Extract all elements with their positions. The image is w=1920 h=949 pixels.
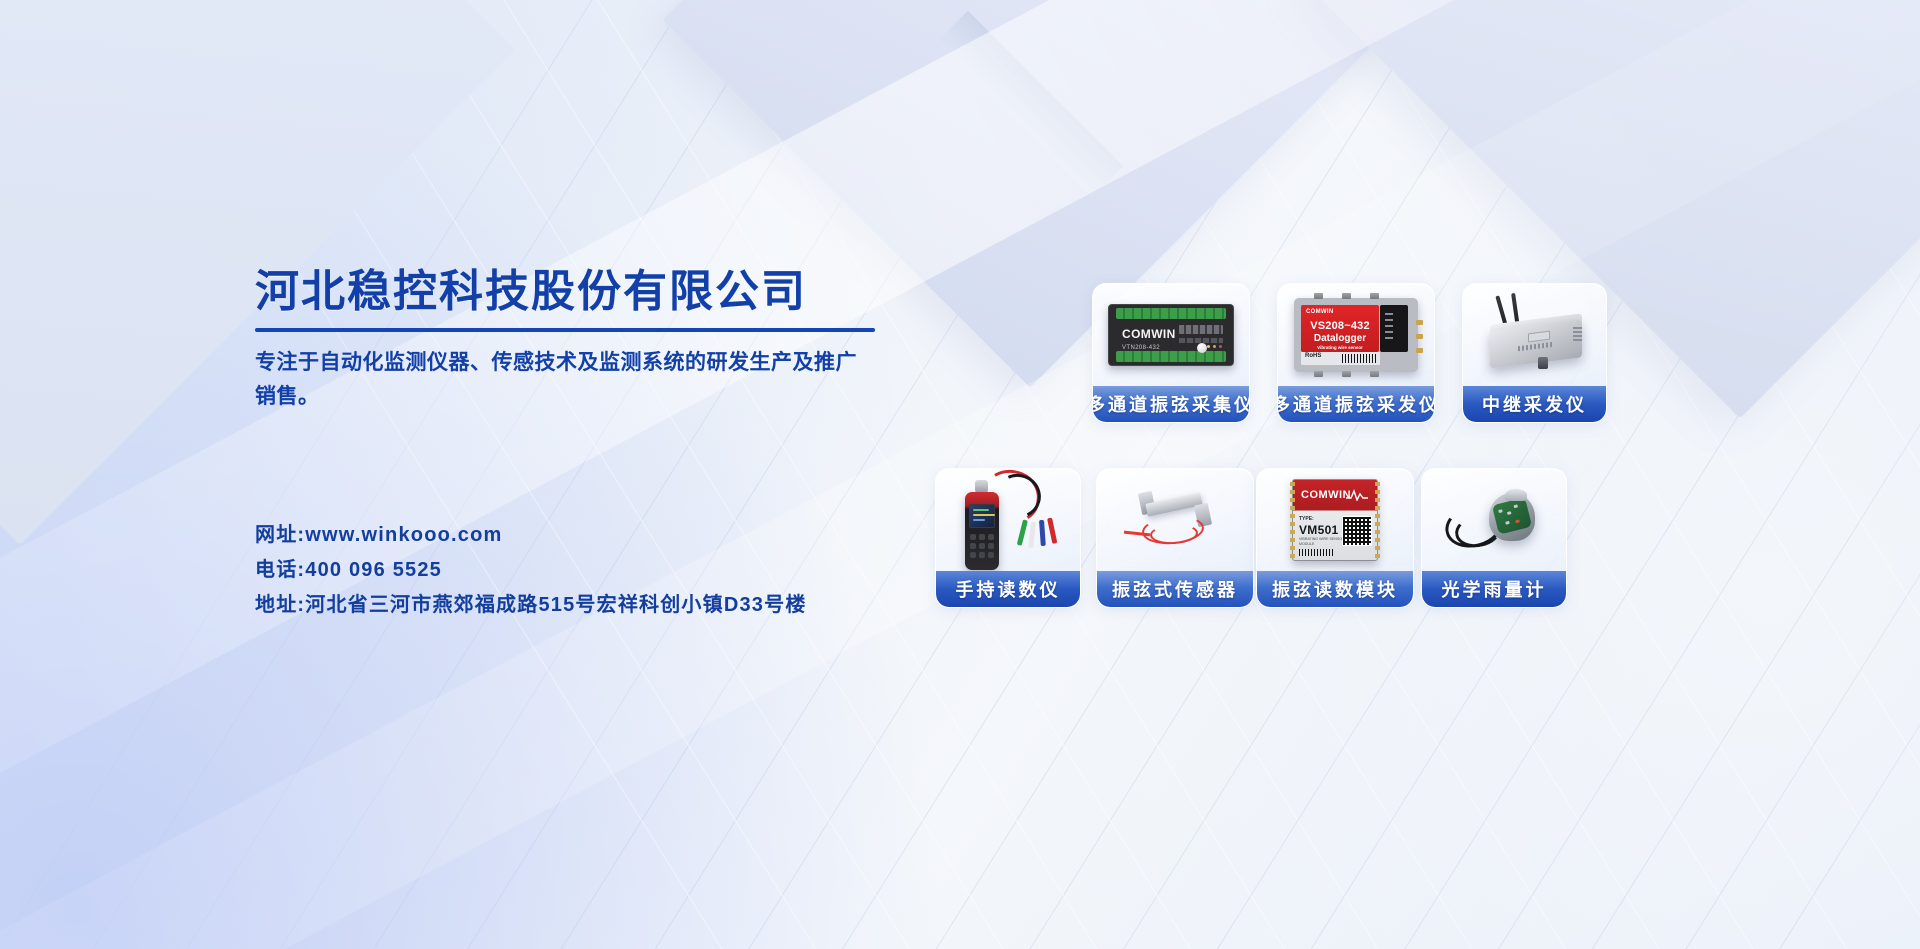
company-tagline: 专注于自动化监测仪器、传感技术及监测系统的研发生产及推广销售。 — [255, 346, 875, 414]
product-card-vibrating-wire-sensor[interactable]: 振弦式传感器 — [1096, 468, 1254, 608]
clip-green — [1017, 519, 1028, 545]
qr-code-icon — [1342, 516, 1372, 546]
device-type-label: TYPE: — [1299, 516, 1314, 522]
device-type-label: Datalogger — [1302, 333, 1378, 344]
device-vs208-datalogger: COMWIN VS208~432 Datalogger Vibrating wi… — [1294, 298, 1418, 372]
wave-icon — [1346, 488, 1368, 500]
background-isometric-slab-right — [1430, 0, 1920, 290]
product-image-relay-transceiver — [1463, 284, 1606, 386]
device-model-label: VTN208-432 — [1122, 345, 1160, 351]
product-label-relay-transceiver: 中继采发仪 — [1463, 386, 1606, 422]
product-image-reading-module: COMWIN TYPE: VM501 VIBRATING WIRE SENSOR… — [1257, 469, 1413, 571]
device-brand-label: COMWIN — [1301, 489, 1351, 501]
product-card-multichannel-collector[interactable]: COMWIN VTN208-432 多通道振弦采集仪 — [1092, 283, 1250, 423]
product-image-optical-rain-gauge — [1422, 469, 1566, 571]
title-divider — [255, 328, 875, 332]
barcode-icon — [1299, 549, 1335, 556]
device-brand-label: COMWIN — [1306, 309, 1333, 315]
product-card-multichannel-datalogger[interactable]: COMWIN VS208~432 Datalogger Vibrating wi… — [1277, 283, 1435, 423]
product-card-handheld-reader[interactable]: 手持读数仪 — [935, 468, 1081, 608]
product-label-vibrating-wire-sensor: 振弦式传感器 — [1097, 571, 1253, 607]
device-leds — [1207, 345, 1222, 348]
product-label-multichannel-datalogger: 多通道振弦采发仪 — [1278, 386, 1434, 422]
device-handheld-reader — [949, 468, 1067, 576]
device-vm501-module: COMWIN TYPE: VM501 VIBRATING WIRE SENSOR… — [1292, 479, 1378, 561]
device-vtn208-logger: COMWIN VTN208-432 — [1108, 304, 1234, 366]
product-card-optical-rain-gauge[interactable]: 光学雨量计 — [1421, 468, 1567, 608]
barcode-icon — [1342, 354, 1376, 363]
device-cert-strip: RoHS — [1301, 352, 1380, 365]
product-image-handheld-reader — [936, 469, 1080, 571]
contact-website: 网址:www.winkooo.com — [255, 518, 807, 553]
device-relay-box — [1476, 299, 1594, 371]
clip-blue — [1039, 520, 1046, 546]
contact-block: 网址:www.winkooo.com 电话:400 096 5525 地址:河北… — [255, 518, 807, 623]
device-knob — [1197, 343, 1207, 353]
page-title: 河北稳控科技股份有限公司 — [255, 268, 895, 316]
device-display — [1179, 325, 1223, 334]
device-model-label: VS208~432 — [1302, 320, 1378, 332]
product-label-reading-module: 振弦读数模块 — [1257, 571, 1413, 607]
product-image-multichannel-collector: COMWIN VTN208-432 — [1093, 284, 1249, 386]
company-text-block: 河北稳控科技股份有限公司 专注于自动化监测仪器、传感技术及监测系统的研发生产及推… — [255, 268, 895, 414]
contact-phone: 电话:400 096 5525 — [255, 553, 807, 588]
product-card-reading-module[interactable]: COMWIN TYPE: VM501 VIBRATING WIRE SENSOR… — [1256, 468, 1414, 608]
product-image-vibrating-wire-sensor — [1097, 469, 1253, 571]
product-label-handheld-reader: 手持读数仪 — [936, 571, 1080, 607]
clip-red — [1047, 517, 1057, 543]
product-card-relay-transceiver[interactable]: 中继采发仪 — [1462, 283, 1607, 423]
product-image-multichannel-datalogger: COMWIN VS208~432 Datalogger Vibrating wi… — [1278, 284, 1434, 386]
clip-white — [1028, 522, 1036, 548]
company-banner: 河北稳控科技股份有限公司 专注于自动化监测仪器、传感技术及监测系统的研发生产及推… — [0, 0, 1920, 949]
product-label-optical-rain-gauge: 光学雨量计 — [1422, 571, 1566, 607]
device-brand-label: COMWIN — [1122, 327, 1176, 341]
device-optical-rain-gauge — [1439, 477, 1549, 563]
background-isometric-slab-center — [770, 0, 1290, 280]
device-vibrating-wire-sensor — [1116, 476, 1234, 564]
contact-address: 地址:河北省三河市燕郊福成路515号宏祥科创小镇D33号楼 — [255, 588, 807, 623]
device-model-label: VM501 — [1299, 523, 1339, 537]
rohs-icon: RoHS — [1305, 353, 1321, 359]
product-label-multichannel-collector: 多通道振弦采集仪 — [1093, 386, 1249, 422]
